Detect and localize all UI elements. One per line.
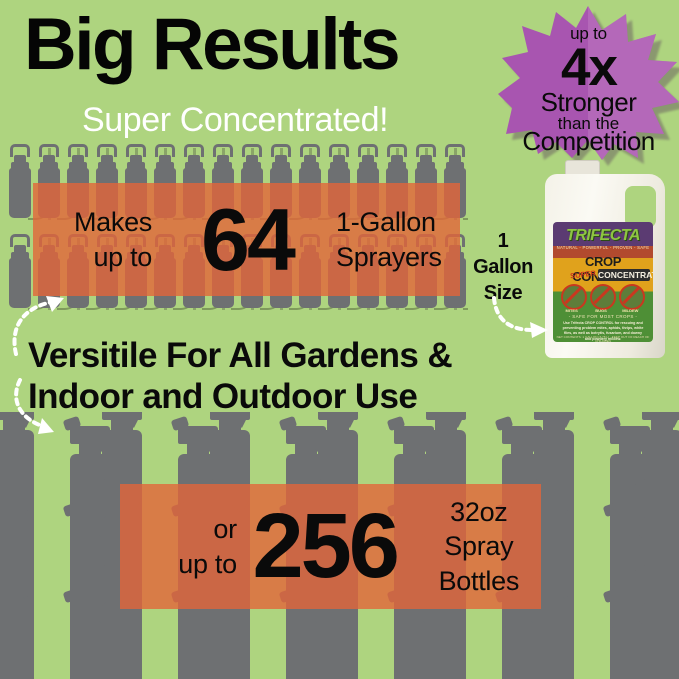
callout-256-right-text: 32oz Spray Bottles (417, 495, 541, 599)
label-brand: TRIFECTA (553, 227, 653, 245)
callout-64-sprayers: Makes up to 64 1-Gallon Sprayers (33, 183, 460, 296)
infographic-canvas: Big Results Super Concentrated! Makes up… (0, 0, 679, 679)
product-label: TRIFECTA NATURAL - POWERFUL - PROVEN - S… (553, 222, 653, 342)
dotted-arrow-to-bottles-icon (8, 378, 78, 438)
versatile-heading: Versitile For All Gardens & Indoor and O… (28, 336, 452, 418)
callout-64-right-text: 1-Gallon Sprayers (336, 205, 442, 274)
callout-256-left-text: or up to (140, 512, 237, 581)
gallon-size-caption: 1 Gallon Size (470, 228, 536, 306)
label-safe-line: - SAFE FOR MOST CROPS - (553, 314, 653, 319)
callout-64-number: 64 (174, 198, 320, 282)
page-subtitle: Super Concentrated! (82, 101, 388, 140)
label-concentrate: CONCENTRATE (598, 269, 650, 281)
pump-sprayer-icon (6, 142, 36, 234)
no-mites-icon: MITES (561, 284, 587, 310)
dotted-arrow-to-jug-icon (488, 296, 554, 340)
spray-bottle-icon (634, 560, 679, 679)
label-net-contents: NET CONTENTS: 1 GALLON (3.78 L) - KEEP O… (553, 335, 653, 342)
callout-256-number: 256 (243, 503, 407, 590)
no-mildew-icon: MILDEW (619, 284, 645, 310)
no-mites-label: MITES (560, 308, 584, 313)
spray-bottle-icon (0, 560, 42, 679)
badge-competition: Competition (498, 126, 679, 157)
label-pest-icons: MITES BUGS MILDEW (559, 284, 647, 312)
starburst-text: up to 4x Stronger than the Competition (498, 4, 679, 160)
no-bugs-icon: BUGS (590, 284, 616, 310)
no-bugs-label: BUGS (589, 308, 613, 313)
callout-256-bottles: or up to 256 32oz Spray Bottles (120, 484, 541, 609)
starburst-badge: up to 4x Stronger than the Competition (498, 4, 679, 160)
no-mildew-label: MILDEW (618, 308, 642, 313)
dotted-arrow-to-sprayers-icon (8, 294, 78, 358)
page-title: Big Results (24, 8, 398, 81)
label-brand-tagline: NATURAL - POWERFUL - PROVEN - SAFE (553, 245, 653, 250)
callout-64-left-text: Makes up to (60, 205, 152, 274)
